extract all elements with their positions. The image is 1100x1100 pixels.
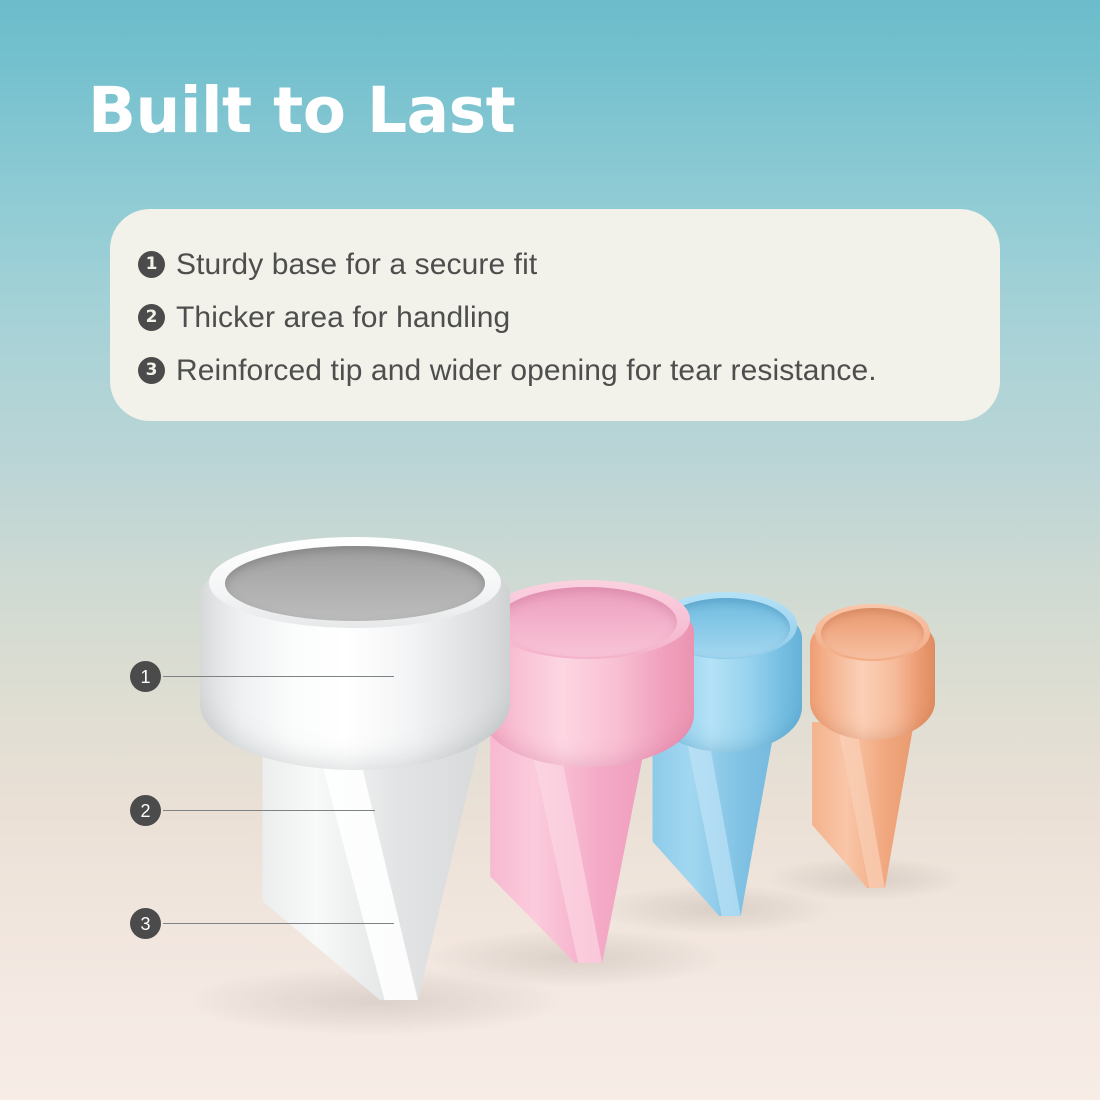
spout-white xyxy=(258,740,480,1000)
spout-pink xyxy=(487,735,647,963)
number-badge-1: 1 xyxy=(138,251,165,278)
leader-line-2 xyxy=(163,810,375,811)
feature-text-3: Reinforced tip and wider opening for tea… xyxy=(176,354,877,388)
callout-3: 3 xyxy=(130,908,394,939)
collar-opening xyxy=(821,608,924,659)
callout-marker-2: 2 xyxy=(130,795,161,826)
number-badge-2: 2 xyxy=(138,304,165,331)
list-item: 1 Sturdy base for a secure fit xyxy=(138,238,986,291)
list-item: 3 Reinforced tip and wider opening for t… xyxy=(138,344,986,397)
product-illustration xyxy=(0,430,1100,1100)
callout-marker-3: 3 xyxy=(130,908,161,939)
number-badge-3: 3 xyxy=(138,357,165,384)
leader-line-1 xyxy=(163,676,394,677)
spout-orange xyxy=(810,722,914,888)
callout-2: 2 xyxy=(130,795,375,826)
collar-opening xyxy=(497,587,677,657)
features-card: 1 Sturdy base for a secure fit 2 Thicker… xyxy=(110,209,1000,421)
page-title: Built to Last xyxy=(88,78,515,144)
collar-opening xyxy=(225,546,485,621)
leader-line-3 xyxy=(163,923,394,924)
feature-list: 1 Sturdy base for a secure fit 2 Thicker… xyxy=(138,238,986,397)
collar-white xyxy=(200,548,510,770)
feature-text-2: Thicker area for handling xyxy=(176,301,510,335)
list-item: 2 Thicker area for handling xyxy=(138,291,986,344)
feature-text-1: Sturdy base for a secure fit xyxy=(176,248,537,282)
callout-marker-1: 1 xyxy=(130,661,161,692)
collar-pink xyxy=(482,592,694,767)
callout-1: 1 xyxy=(130,661,394,692)
poster-canvas: Built to Last 1 Sturdy base for a secure… xyxy=(0,0,1100,1100)
collar-orange xyxy=(810,612,935,740)
